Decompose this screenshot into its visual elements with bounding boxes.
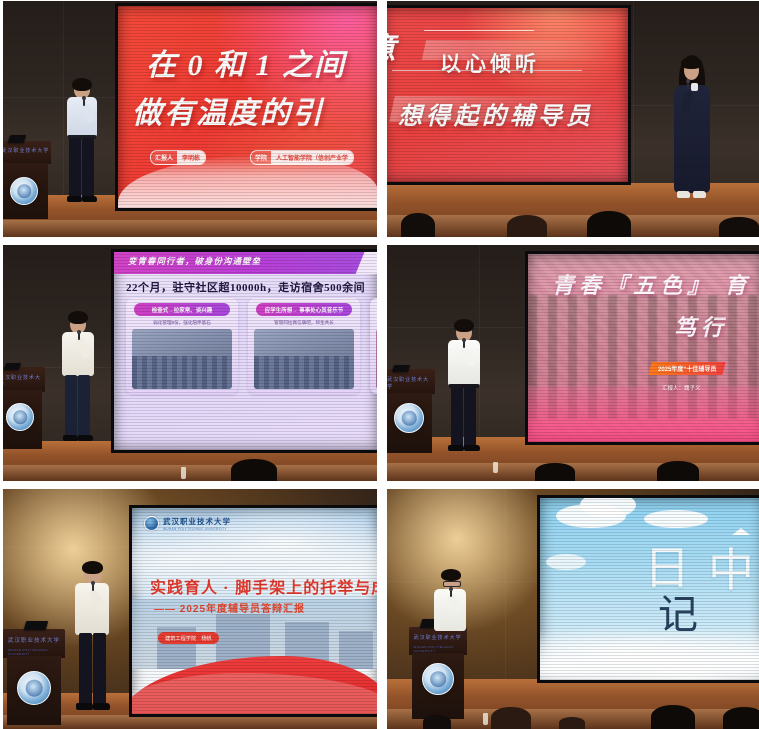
photo-panel-1[interactable]: 在 0 和 1 之间 做有温度的引 汇报人 李明栋 学院 人工智能学院（信创产业… [3, 1, 377, 237]
cloud [546, 554, 586, 570]
slide-title-line-2: 笃行 [674, 310, 728, 342]
speaker-person [669, 57, 715, 221]
slide-meta-presenter: 汇报人 李明栋 [150, 150, 206, 165]
shoe-right [93, 703, 110, 710]
floor-reflection [3, 465, 377, 481]
slide-ribbon: 2025年度“十佳辅导员 [648, 362, 726, 375]
podium-laptop [24, 621, 49, 630]
shoe-right [464, 445, 480, 451]
speaker-person [431, 571, 473, 635]
podium: 武汉职业技术大学 WUHAN POLYTECHNIC UNIVERSITY [409, 627, 467, 719]
podium-name-en: WUHAN POLYTECHNIC UNIVERSITY [8, 648, 65, 656]
card-photo-crowd [254, 356, 354, 389]
photo-panel-3[interactable]: 变青春同行者，破身份沟通壁垒 22个月，驻守社区超10000h，走访宿舍500余… [3, 245, 377, 481]
audience-head [651, 705, 695, 729]
slide-title: 实践育人 · 脚手架上的托举与成 [150, 574, 377, 598]
meta-key: 学院 [251, 153, 271, 162]
photo-panel-6[interactable]: 日 中 记 武汉职业技术大学 WUHAN POLYTECHNIC UNIVERS… [387, 489, 759, 729]
card-photo [254, 329, 354, 389]
photo-panel-2[interactable]: 意 以心倾听 想得起的辅导员 [387, 1, 759, 237]
speaker-person [61, 81, 105, 211]
shoe-right [82, 196, 97, 202]
slide-title-line-1: 以心倾听 [440, 48, 540, 78]
photo-panel-5[interactable]: 武汉职业技术大学 WUHAN POLYTECHNIC UNIVERSITY 实践… [3, 489, 377, 729]
photo-collage-grid: 在 0 和 1 之间 做有温度的引 汇报人 李明栋 学院 人工智能学院（信创产业… [0, 0, 759, 723]
speaker-person [57, 313, 101, 453]
podium-name-en: WUHAN POLYTECHNIC UNIVERSITY [414, 645, 467, 653]
hair [454, 319, 474, 332]
meta-value: 李明栋 [177, 151, 205, 164]
podium-laptop [8, 135, 27, 143]
audience-head [231, 459, 277, 481]
water-bottle [493, 462, 498, 473]
slide-author-pill: 建筑工程学院 杨帆 [158, 632, 219, 644]
slide-subtitle: —— 2025年度辅导员答辩汇报 [154, 600, 305, 615]
slide-card: 应学生所想→ 事事处心其音乐节 管管阿拉佩信联吧，师生共长 [248, 298, 360, 394]
microphone [83, 98, 85, 106]
audience-head [719, 217, 759, 237]
slide-title-line-2: 做有温度的引 [132, 88, 324, 132]
leg-left [69, 138, 81, 198]
cloud [644, 510, 708, 528]
microphone [450, 589, 452, 597]
podium-name-cn: 武汉职业技术大学 [8, 636, 60, 644]
hair-fringe [681, 57, 702, 69]
meta-key: 汇报人 [151, 153, 177, 162]
led-screen: 变青春同行者，破身份沟通壁垒 22个月，驻守社区超10000h，走访宿舍500余… [111, 249, 377, 453]
slide-byline: 汇报人：魏子义 [662, 384, 701, 392]
podium-laptop [4, 363, 21, 370]
water-bottle [181, 467, 186, 479]
leg-right [78, 375, 90, 437]
podium-name-cn: 武汉职业技术大学 [3, 374, 45, 388]
university-emblem [17, 671, 51, 705]
hair [82, 561, 103, 574]
microphone [463, 340, 465, 348]
leg-right [93, 633, 106, 705]
university-name-cn: 武汉职业技术大学 [163, 516, 231, 527]
led-screen: 武汉职业技术大学 WUHAN POLYTECHNIC UNIVERSITY 实践… [129, 505, 377, 717]
shoe-left [67, 196, 82, 202]
led-screen: 青春『五色』 育 笃行 2025年度“十佳辅导员 汇报人：魏子义 [525, 251, 759, 445]
meta-value: 人工智能学院（信创产业学 [271, 151, 353, 164]
shoe-left [677, 191, 690, 198]
slide-title-line-1: 青春『五色』 育 [552, 268, 752, 300]
hair [72, 78, 92, 91]
audience-head [657, 461, 699, 481]
audience-head [507, 215, 547, 237]
speaker-person [71, 561, 117, 721]
slide-headline: 22个月，驻守社区超10000h，走访宿舍500余间 [126, 279, 365, 295]
hair [68, 311, 88, 324]
slide-foreground-tint [528, 386, 759, 442]
card-subtext: 管管阿拉佩信联吧，师生共长 [254, 319, 354, 327]
led-screen: 在 0 和 1 之间 做有温度的引 汇报人 李明栋 学院 人工智能学院（信创产业… [115, 3, 377, 211]
card-caption: 检查式→拉家常、谈兴趣 [134, 303, 230, 316]
wall-seam [3, 547, 131, 548]
microphone [78, 332, 80, 340]
university-emblem [6, 403, 34, 431]
dress [674, 85, 710, 193]
audience-head [491, 707, 531, 729]
led-screen: 日 中 记 [537, 495, 759, 683]
shoe-left [448, 445, 464, 451]
podium-name-cn: 武汉职业技术大学 [387, 376, 435, 390]
podium-name-cn: 武汉职业技术大学 [3, 147, 49, 154]
wall-seam [633, 1, 634, 211]
slide-glyph-2: 中 [708, 534, 754, 600]
shoe-right [693, 191, 706, 198]
leg-left [65, 375, 77, 437]
glasses-icon [443, 581, 461, 587]
shoe-left [63, 435, 78, 441]
collar [691, 83, 698, 91]
shoe-right [78, 435, 93, 441]
leg-right [82, 138, 94, 198]
university-name-en: WUHAN POLYTECHNIC UNIVERSITY [163, 527, 231, 531]
university-emblem [394, 403, 424, 433]
slide-title-partial: 意 [387, 24, 398, 68]
podium: 武汉职业技术大学 WUHAN POLYTECHNIC UNIVERSITY [3, 629, 65, 725]
slide-rule [424, 30, 534, 31]
wall-seam [505, 489, 506, 695]
university-emblem [422, 663, 454, 695]
podium-name-cn: 武汉职业技术大学 [414, 634, 462, 641]
university-seal-icon [144, 516, 159, 531]
slide-card: 检查式→拉家常、谈兴趣 弱化管理9份，强化陪伴基石 [126, 298, 238, 394]
cloud [580, 495, 636, 518]
campus-building [339, 631, 373, 669]
card-subtext [376, 319, 377, 327]
slide-meta-college: 学院 人工智能学院（信创产业学 [250, 150, 354, 165]
leg-left [79, 633, 92, 705]
audience-head [559, 717, 585, 729]
slide-card [370, 298, 377, 394]
shoe-left [76, 703, 93, 710]
floor-reflection [3, 220, 377, 237]
hair [441, 569, 461, 581]
card-photo [132, 329, 232, 389]
audience-head [723, 707, 759, 729]
podium: 武汉职业技术大学 [3, 367, 45, 449]
card-photo-crowd [132, 356, 232, 389]
leg-right [464, 387, 476, 447]
slide-glyph-3: 记 [658, 582, 698, 640]
card-caption: 应学生所想→ 事事处心其音乐节 [256, 303, 352, 316]
led-screen: 意 以心倾听 想得起的辅导员 [387, 5, 631, 185]
microphone [92, 583, 94, 591]
podium: 武汉职业技术大学 [387, 369, 435, 453]
university-logo-block: 武汉职业技术大学 WUHAN POLYTECHNIC UNIVERSITY [144, 516, 231, 531]
led-scanline-overlay [387, 8, 628, 182]
slide-title-line-1: 在 0 和 1 之间 [146, 40, 346, 84]
card-photo [376, 329, 377, 389]
slide-banner-text: 变青春同行者，破身份沟通壁垒 [128, 255, 261, 267]
cloud-bank [537, 618, 759, 683]
leg-left [451, 387, 463, 447]
podium: 武汉职业技术大学 [3, 141, 51, 219]
card-subtext: 弱化管理9份，强化陪伴基石 [132, 319, 232, 327]
audience-head [535, 463, 575, 481]
university-emblem [10, 177, 38, 205]
microphone [687, 81, 689, 89]
slide-title-line-2: 想得起的辅导员 [398, 96, 594, 131]
podium-laptop [392, 365, 410, 372]
water-bottle [483, 713, 488, 725]
audience-head [401, 213, 435, 237]
photo-panel-4[interactable]: 青春『五色』 育 笃行 2025年度“十佳辅导员 汇报人：魏子义 武汉职业技术大… [387, 245, 759, 481]
audience-head [587, 211, 631, 237]
audience-head [423, 715, 451, 729]
slide-ribbon-text: 2025年度“十佳辅导员 [658, 364, 716, 373]
speaker-person [443, 321, 487, 463]
